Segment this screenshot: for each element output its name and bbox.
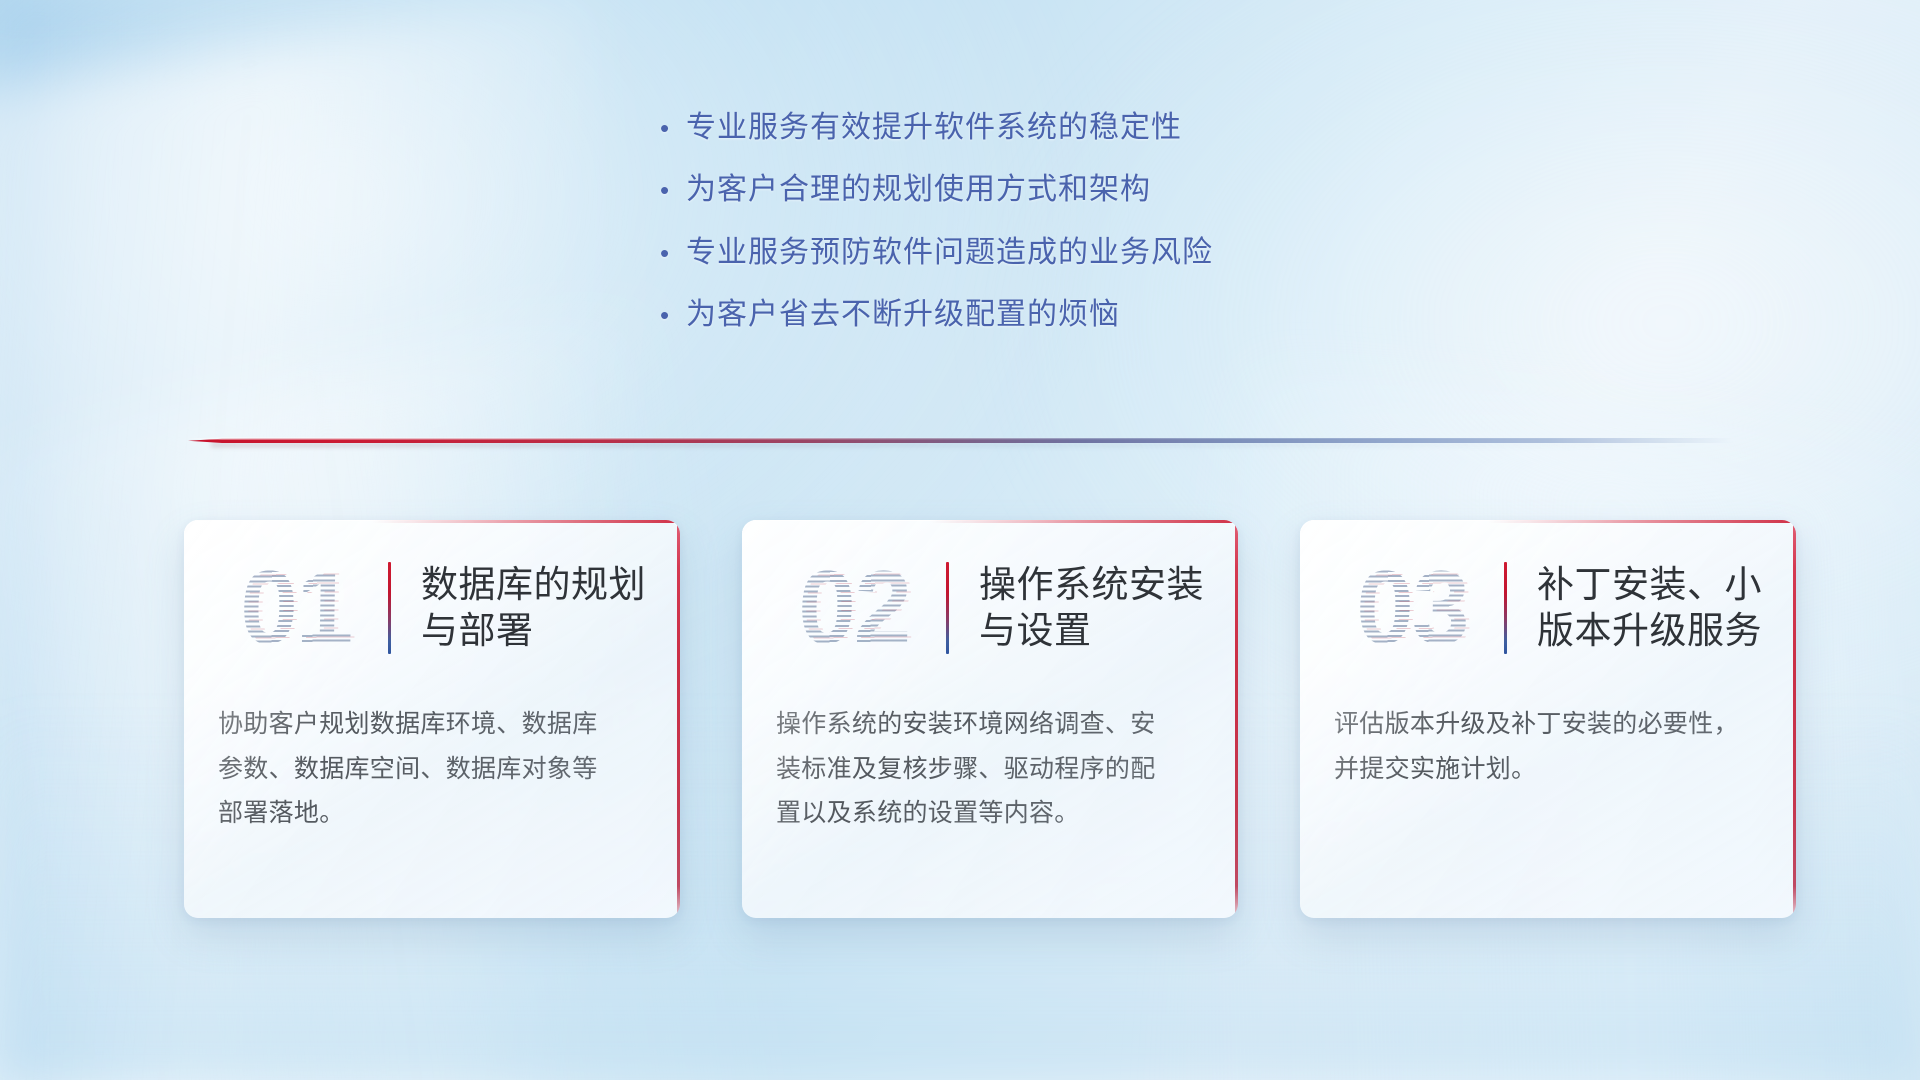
card-title: 数据库的规划 与部署 [421,562,646,654]
bullet-item-1: • 专业服务有效提升软件系统的稳定性 [660,110,1213,145]
bullet-text-3: 专业服务预防软件问题造成的业务风险 [686,235,1213,270]
card-header: 03 补丁安装、小 版本升级服务 [1300,520,1796,696]
card-title: 操作系统安装 与设置 [979,562,1204,654]
card-description: 评估版本升级及补丁安装的必要性， 并提交实施计划。 [1300,696,1796,791]
card-title-divider-bar [388,562,391,654]
bullet-text-2: 为客户合理的规划使用方式和架构 [686,172,1151,207]
card-number-watermark: 02 [767,556,941,660]
service-card-03[interactable]: 03 补丁安装、小 版本升级服务 评估版本升级及补丁安装的必要性， 并提交实施计… [1300,520,1796,918]
bullet-marker-icon: • [660,302,686,328]
card-title-divider-bar [1504,562,1507,654]
bullet-marker-icon: • [660,240,686,266]
card-title: 补丁安装、小 版本升级服务 [1537,562,1762,654]
card-description: 协助客户规划数据库环境、数据库 参数、数据库空间、数据库对象等 部署落地。 [184,696,680,836]
card-header: 01 数据库的规划 与部署 [184,520,680,696]
card-title-divider-bar [946,562,949,654]
bullet-text-1: 专业服务有效提升软件系统的稳定性 [686,110,1182,145]
bullet-item-2: • 为客户合理的规划使用方式和架构 [660,172,1213,207]
bullet-marker-icon: • [660,115,686,141]
divider-sheen [188,437,1733,440]
section-divider [188,434,1733,450]
card-header: 02 操作系统安装 与设置 [742,520,1238,696]
benefits-bullet-list: • 专业服务有效提升软件系统的稳定性 • 为客户合理的规划使用方式和架构 • 专… [660,110,1213,360]
bullet-item-4: • 为客户省去不断升级配置的烦恼 [660,297,1213,332]
bullet-marker-icon: • [660,177,686,203]
card-number-watermark: 01 [209,556,383,660]
service-card-group: 01 数据库的规划 与部署 协助客户规划数据库环境、数据库 参数、数据库空间、数… [184,520,1796,918]
bullet-item-3: • 专业服务预防软件问题造成的业务风险 [660,235,1213,270]
service-card-01[interactable]: 01 数据库的规划 与部署 协助客户规划数据库环境、数据库 参数、数据库空间、数… [184,520,680,918]
divider-shadow [211,443,1694,447]
card-number-watermark: 03 [1325,556,1499,660]
service-card-02[interactable]: 02 操作系统安装 与设置 操作系统的安装环境网络调查、安 装标准及复核步骤、驱… [742,520,1238,918]
bullet-text-4: 为客户省去不断升级配置的烦恼 [686,297,1120,332]
card-description: 操作系统的安装环境网络调查、安 装标准及复核步骤、驱动程序的配 置以及系统的设置… [742,696,1238,836]
